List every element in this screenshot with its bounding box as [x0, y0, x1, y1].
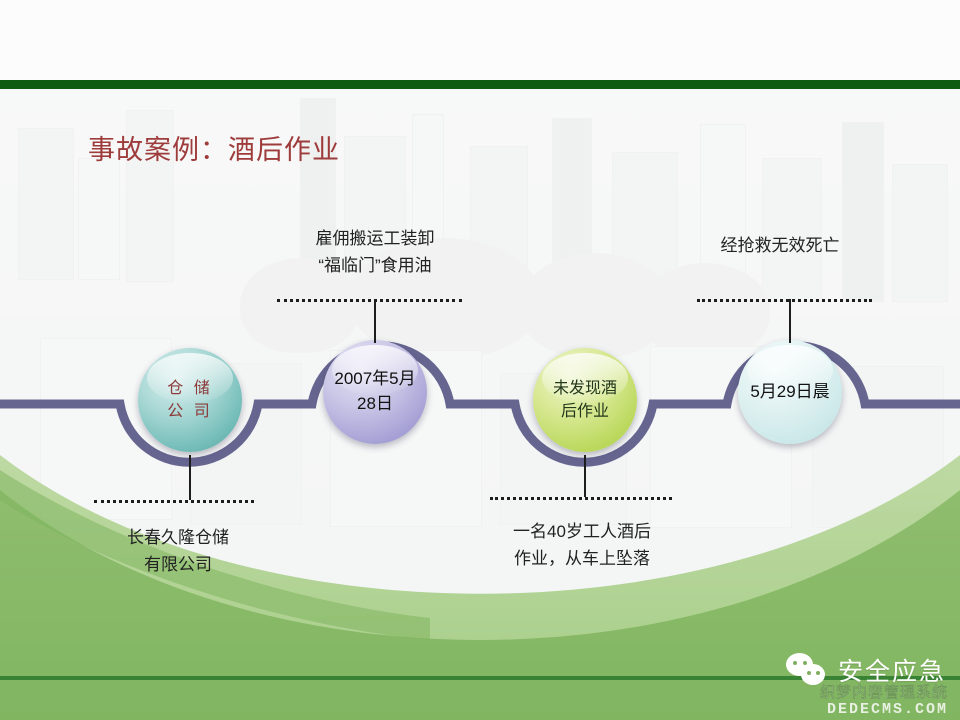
- callout-worker-fell: 一名40岁工人酒后 作业，从车上坠落: [468, 518, 696, 572]
- callout-died: 经抢救无效死亡: [680, 232, 880, 259]
- slide-canvas: 事故案例：酒后作业 仓 储 公 司 2007年5月 28日 未发现酒 后作业 5…: [0, 0, 960, 720]
- bg-building: [842, 122, 884, 302]
- wechat-bubble-small: [801, 664, 825, 685]
- leader-stem: [584, 455, 586, 497]
- callout-hired-porters: 雇佣搬运工装卸 “福临门”食用油: [268, 225, 482, 279]
- leader-stem: [189, 455, 191, 500]
- timeline-node-warehouse-company[interactable]: 仓 储 公 司: [138, 348, 242, 452]
- watermark-line-2: DEDECMS.COM: [820, 701, 948, 718]
- watermark-line-1: 织梦内容管理系统: [820, 684, 948, 701]
- leader-stem: [789, 299, 791, 343]
- wechat-eye-dot: [807, 671, 811, 675]
- wechat-eye-dot: [816, 671, 820, 675]
- page-title: 事故案例：酒后作业: [88, 128, 340, 167]
- leader-dots: [490, 497, 672, 500]
- bg-building: [892, 164, 948, 302]
- node-label: 5月29日晨: [750, 380, 829, 405]
- watermark: 织梦内容管理系统 DEDECMS.COM: [820, 684, 948, 719]
- timeline-node-not-found-drinking[interactable]: 未发现酒 后作业: [533, 348, 637, 452]
- leader-dots: [697, 299, 872, 302]
- bg-building: [762, 158, 822, 302]
- bg-building: [18, 128, 74, 280]
- timeline-node-date-2007-05-28[interactable]: 2007年5月 28日: [323, 340, 427, 444]
- wechat-icon: [786, 653, 828, 687]
- callout-company-name: 长春久隆仓储 有限公司: [78, 524, 278, 578]
- node-label: 2007年5月 28日: [334, 367, 415, 416]
- node-label: 仓 储 公 司: [167, 377, 212, 423]
- bg-building: [78, 158, 120, 280]
- wechat-eye-dot: [803, 661, 807, 665]
- leader-dots: [277, 299, 462, 302]
- wechat-eye-dot: [793, 661, 797, 665]
- top-green-rule: [0, 80, 960, 89]
- node-label: 未发现酒 后作业: [553, 377, 617, 423]
- timeline-node-date-05-29-morning[interactable]: 5月29日晨: [738, 340, 842, 444]
- leader-stem: [374, 299, 376, 343]
- leader-dots: [94, 500, 254, 503]
